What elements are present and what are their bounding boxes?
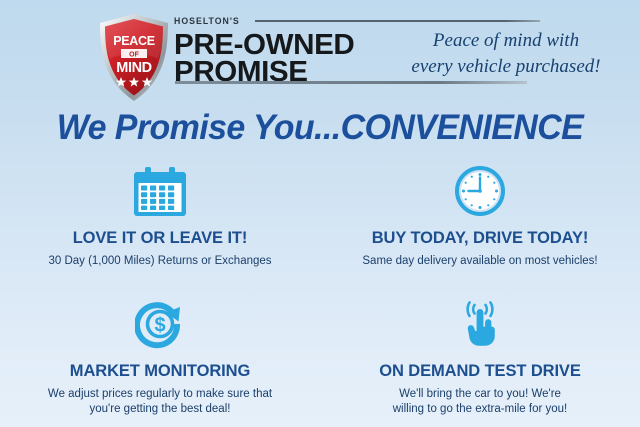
feature-subtitle: 30 Day (1,000 Miles) Returns or Exchange… [48,254,271,269]
feature-subtitle-line1: We adjust prices regularly to make sure … [48,387,272,402]
feature-love-it-or-leave-it: LOVE IT OR LEAVE IT! 30 Day (1,000 Miles… [0,158,320,291]
divider-line-bottom [175,81,527,84]
feature-title: MARKET MONITORING [70,362,250,381]
feature-subtitle: We adjust prices regularly to make sure … [48,387,272,417]
peace-of-mind-promise-poster: PEACE OF MIND HOSELTON'S PRE-OWNED PROMI… [0,0,640,427]
tap-hand-icon [452,296,508,352]
brand-eyebrow: HOSELTON'S [174,16,240,27]
svg-text:PEACE: PEACE [113,34,155,48]
peace-of-mind-shield-badge: PEACE OF MIND [96,12,172,104]
feature-buy-today-drive-today: BUY TODAY, DRIVE TODAY! Same day deliver… [320,158,640,291]
feature-on-demand-test-drive: ON DEMAND TEST DRIVE We'll bring the car… [320,291,640,424]
divider-line-top [255,20,541,22]
calendar-icon [132,163,188,219]
feature-subtitle-line1: Same day delivery available on most vehi… [362,254,597,269]
tagline-line1: Peace of mind with [386,28,626,54]
shield-icon: PEACE OF MIND [96,12,172,104]
tagline-line2: every vehicle purchased! [386,54,626,80]
feature-title: ON DEMAND TEST DRIVE [379,362,581,381]
features-grid: LOVE IT OR LEAVE IT! 30 Day (1,000 Miles… [0,158,640,423]
feature-subtitle: Same day delivery available on most vehi… [362,254,597,269]
tagline: Peace of mind with every vehicle purchas… [386,28,626,79]
feature-title: LOVE IT OR LEAVE IT! [73,229,248,248]
dollar-refresh-icon: $ [132,296,188,352]
feature-subtitle-line1: We'll bring the car to you! We're [393,387,568,402]
svg-text:$: $ [154,314,165,336]
brand-eyebrow-row: HOSELTON'S [174,13,556,29]
feature-subtitle: We'll bring the car to you! We're willin… [393,387,568,417]
feature-subtitle-line1: 30 Day (1,000 Miles) Returns or Exchange… [48,254,271,269]
svg-text:MIND: MIND [116,60,151,76]
feature-subtitle-line2: willing to go the extra-mile for you! [393,402,568,417]
feature-title: BUY TODAY, DRIVE TODAY! [372,229,589,248]
feature-subtitle-line2: you're getting the best deal! [48,402,272,417]
clock-icon [452,163,508,219]
svg-text:OF: OF [129,51,139,58]
feature-market-monitoring: $ MARKET MONITORING We adjust prices reg… [0,291,320,424]
page-title: We Promise You...CONVENIENCE [10,108,631,148]
